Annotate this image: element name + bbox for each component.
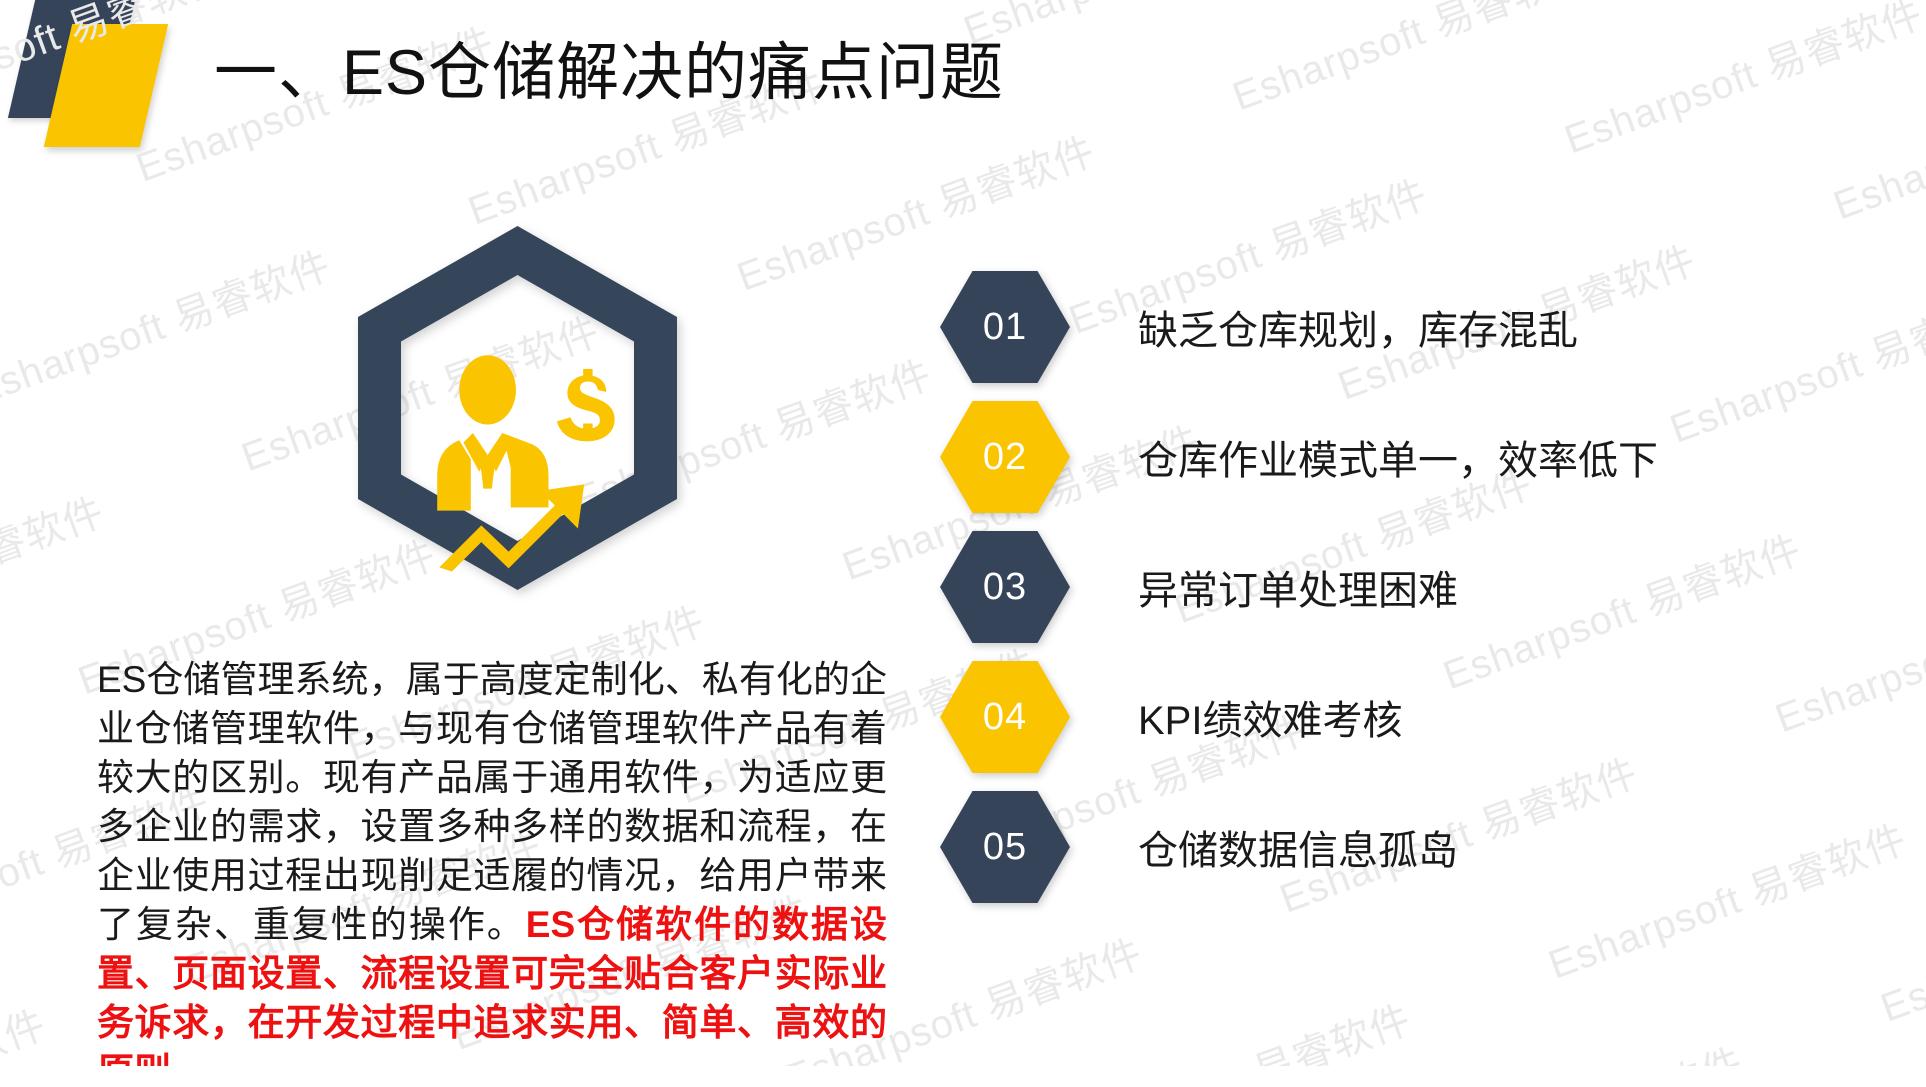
- list-item-label: 异常订单处理困难: [1138, 558, 1458, 616]
- hexagon-badge: 01: [940, 271, 1070, 383]
- list-item[interactable]: 04 KPI绩效难考核: [940, 652, 1658, 782]
- step-number: 03: [940, 531, 1070, 643]
- hexagon-badge: 04: [940, 661, 1070, 773]
- watermark-text: Esharpsoft 易睿软件: [0, 190, 6, 374]
- hexagon-badge: 05: [940, 791, 1070, 903]
- list-item[interactable]: 05 仓储数据信息孤岛: [940, 782, 1658, 912]
- watermark-text: Esharpsoft 易睿软件: [0, 480, 111, 664]
- step-number: 05: [940, 791, 1070, 903]
- slide-bottom-edge: [0, 1066, 1926, 1087]
- watermark-text: Esharpsoft 易睿软件: [1871, 850, 1926, 1034]
- hexagon-badge: 02: [940, 401, 1070, 513]
- watermark-text: Esharpsoft 易睿软件: [0, 233, 338, 417]
- watermark-text: Esharpsoft 易睿软件: [954, 0, 1328, 56]
- description-paragraph: ES仓储管理系统，属于高度定制化、私有化的企业仓储管理软件，与现有仓储管理软件产…: [97, 655, 887, 1087]
- watermark-text: Esharpsoft 易睿软件: [1824, 48, 1926, 232]
- step-number: 04: [940, 661, 1070, 773]
- hexagon-ring-shape: [358, 226, 677, 590]
- list-item-label: 仓储数据信息孤岛: [1138, 818, 1458, 876]
- page-title: 一、ES仓储解决的痛点问题: [214, 34, 1004, 112]
- list-item[interactable]: 02 仓库作业模式单一，效率低下: [940, 392, 1658, 522]
- watermark-text: Esharpsoft 易睿软件: [1766, 560, 1926, 744]
- list-item-label: KPI绩效难考核: [1138, 688, 1402, 746]
- step-number: 01: [940, 271, 1070, 383]
- watermark-text: Esharpsoft 易睿软件: [622, 0, 996, 13]
- pain-point-list: 01 缺乏仓库规划，库存混乱 02 仓库作业模式单一，效率低下 03 异常订单处…: [940, 262, 1658, 912]
- slide-canvas: Esharpsoft 易睿软件 Esharpsoft 易睿软件 Esharpso…: [0, 0, 1926, 1087]
- watermark-text: Esharpsoft 易睿软件: [1555, 0, 1926, 165]
- paragraph-text-plain: ES仓储管理系统，属于高度定制化、私有化的企业仓储管理软件，与现有仓储管理软件产…: [97, 659, 887, 945]
- list-item[interactable]: 01 缺乏仓库规划，库存混乱: [940, 262, 1658, 392]
- list-item[interactable]: 03 异常订单处理困难: [940, 522, 1658, 652]
- watermark-text: Esharpsoft 易睿软件: [1661, 271, 1926, 455]
- watermark-text: Esharpsoft 易睿软件: [1223, 0, 1597, 122]
- list-item-label: 仓库作业模式单一，效率低下: [1138, 428, 1658, 486]
- list-item-label: 缺乏仓库规划，库存混乱: [1138, 298, 1578, 356]
- hexagon-icon-panel: [325, 218, 710, 603]
- hexagon-badge: 03: [940, 531, 1070, 643]
- step-number: 02: [940, 401, 1070, 513]
